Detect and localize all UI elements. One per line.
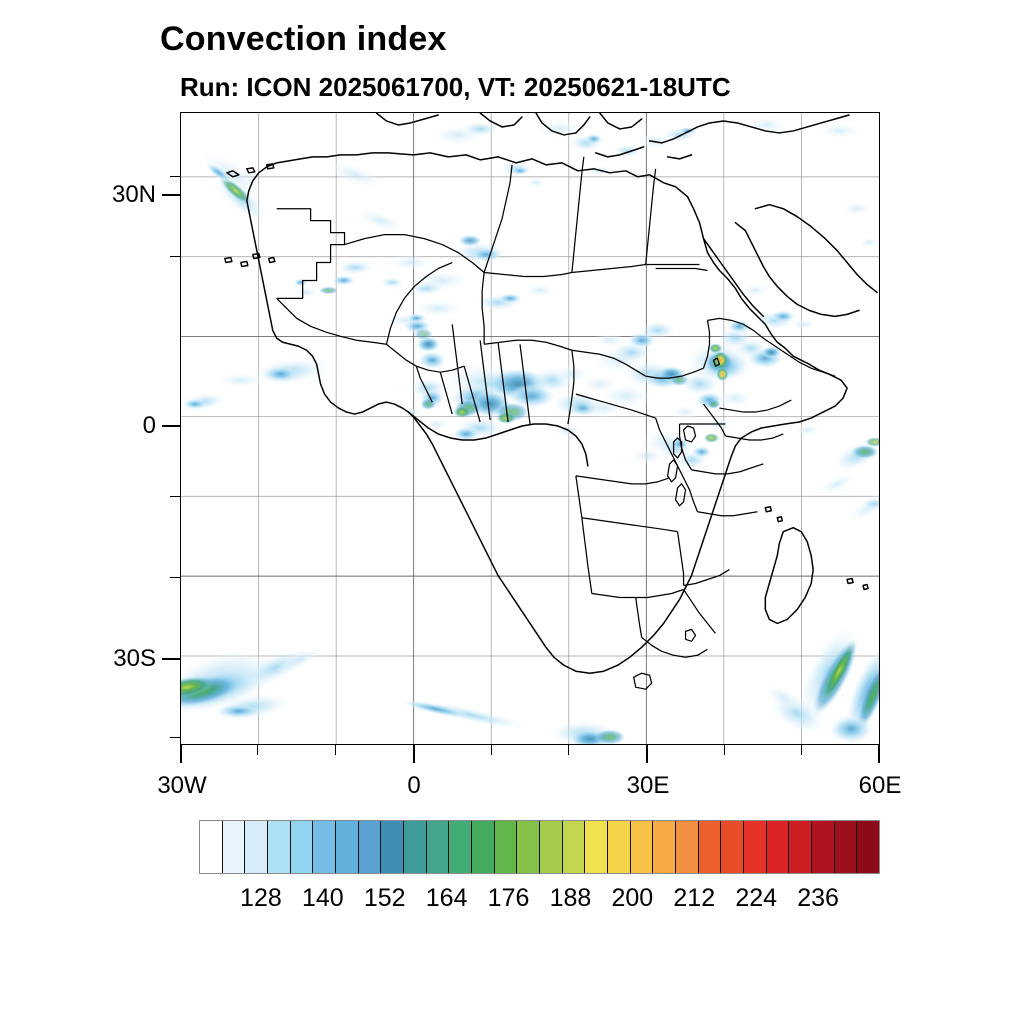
- colorbar-cell: [336, 821, 359, 873]
- xtick-label-30e: 30E: [616, 772, 680, 800]
- xtick-30e: [646, 745, 648, 763]
- xtick-minor-40e: [724, 745, 725, 755]
- ytick-minor-10s: [170, 496, 180, 497]
- colorbar-cell: [585, 821, 608, 873]
- colorbar-tick-label: 140: [302, 884, 344, 913]
- arabia-coastline: [735, 205, 877, 317]
- convection-agulhas-band: [400, 696, 626, 744]
- colorbar-cell: [721, 821, 744, 873]
- colorbar-tick-label: 188: [550, 884, 592, 913]
- colorbar-cell: [381, 821, 404, 873]
- ytick-minor-40s: [170, 737, 180, 738]
- ytick-minor-10n: [170, 256, 180, 257]
- map-plot-area[interactable]: [180, 112, 880, 745]
- madagascar-coastline: [765, 528, 813, 624]
- colorbar-cell: [449, 821, 472, 873]
- colorbar-tick-label: 212: [673, 884, 715, 913]
- colorbar-cell: [608, 821, 631, 873]
- colorbar-cell: [563, 821, 586, 873]
- page-subtitle: Run: ICON 2025061700, VT: 20250621-18UTC: [180, 72, 731, 103]
- colorbar-tick-label: 236: [797, 884, 839, 913]
- ytick-minor-20s: [170, 577, 180, 578]
- colorbar-cell: [495, 821, 518, 873]
- xtick-0: [413, 745, 415, 763]
- colorbar-tick-label: 176: [488, 884, 530, 913]
- convection-field: [181, 117, 879, 744]
- convection-red-sea-yemen: [741, 283, 817, 330]
- convection-ethiopian-highlands: [672, 319, 784, 419]
- colorbar-cell: [245, 821, 268, 873]
- map-major-gridlines: [181, 113, 879, 744]
- map-svg: [181, 113, 879, 744]
- ytick-label-0: 0: [96, 412, 156, 440]
- map-gridlines: [181, 113, 879, 744]
- colorbar-tick-label: 128: [240, 884, 282, 913]
- colorbar-tick-label: 164: [426, 884, 468, 913]
- colorbar-cell: [223, 821, 246, 873]
- colorbar-cell: [200, 821, 223, 873]
- colorbar-cell: [517, 821, 540, 873]
- africa-coastline: [247, 153, 847, 673]
- xtick-30w: [180, 745, 182, 763]
- colorbar-cell: [268, 821, 291, 873]
- colorbar-tick-label: 224: [735, 884, 777, 913]
- colorbar-cell: [472, 821, 495, 873]
- colorbar-cell: [812, 821, 835, 873]
- colorbar-cell: [789, 821, 812, 873]
- colorbar-cell: [676, 821, 699, 873]
- xtick-label-60e: 60E: [848, 772, 912, 800]
- colorbar-cell: [653, 821, 676, 873]
- ytick-minor-20n: [170, 176, 180, 177]
- xtick-minor-10e: [491, 745, 492, 755]
- xtick-minor-10w: [335, 745, 336, 755]
- convection-canary-offshore: [192, 141, 274, 229]
- ytick-30n: [162, 194, 180, 196]
- colorbar-cell: [427, 821, 450, 873]
- page-title: Convection index: [160, 20, 447, 59]
- figure: Convection index Run: ICON 2025061700, V…: [0, 0, 1024, 1024]
- colorbar-cell: [404, 821, 427, 873]
- colorbar-tick-label: 152: [364, 884, 406, 913]
- convection-south-atlantic-front: [181, 638, 328, 726]
- colorbar-cell: [631, 821, 654, 873]
- xtick-minor-20w: [257, 745, 258, 755]
- colorbar-cell: [744, 821, 767, 873]
- colorbar-cell: [699, 821, 722, 873]
- colorbar-cell: [291, 821, 314, 873]
- convection-arabia: [817, 123, 879, 248]
- colorbar-cell: [313, 821, 336, 873]
- colorbar-cell: [359, 821, 382, 873]
- convection-sw-indian-front: [761, 619, 879, 743]
- colorbar-cell: [857, 821, 879, 873]
- map-country-borders: [277, 157, 835, 689]
- xtick-label-30w: 30W: [150, 772, 214, 800]
- colorbar[interactable]: [199, 820, 880, 874]
- xtick-label-0: 0: [382, 772, 446, 800]
- ytick-0: [162, 425, 180, 427]
- convection-senegal-guinea: [181, 319, 446, 413]
- convection-indian-ocean-cells: [793, 424, 879, 529]
- colorbar-cell: [835, 821, 858, 873]
- ytick-30s: [162, 658, 180, 660]
- xtick-60e: [878, 745, 880, 763]
- ytick-label-30s: 30S: [96, 645, 156, 673]
- colorbar-cell: [540, 821, 563, 873]
- xtick-minor-20e: [568, 745, 569, 755]
- ytick-label-30n: 30N: [96, 181, 156, 209]
- red-sea-west: [704, 239, 764, 317]
- colorbar-cell: [767, 821, 790, 873]
- colorbar-tick-label: 200: [612, 884, 654, 913]
- xtick-minor-50e: [801, 745, 802, 755]
